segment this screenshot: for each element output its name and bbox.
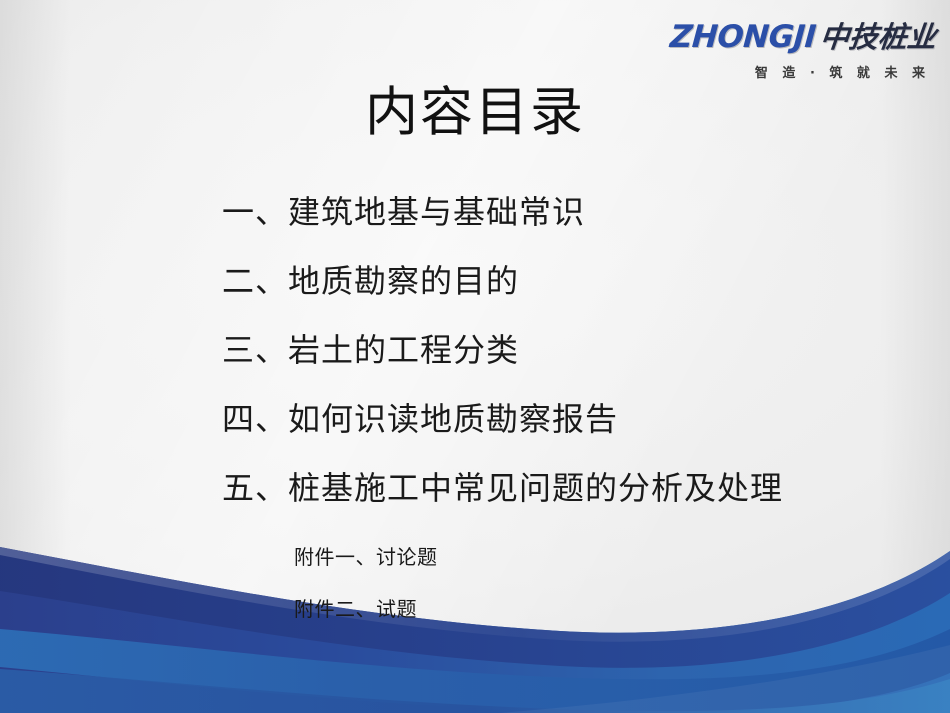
toc-item-1-label: 建筑地基与基础常识 bbox=[288, 193, 585, 231]
toc-item-2-number: 二、 bbox=[222, 262, 288, 300]
logo-tagline: 智 造 · 筑 就 未 来 bbox=[666, 62, 936, 81]
toc-item-5: 五、桩基施工中常见问题的分析及处理 bbox=[222, 472, 912, 504]
toc-item-2: 二、地质勘察的目的 bbox=[222, 265, 912, 297]
logo-chinese-text: 中技桩业 bbox=[818, 23, 937, 52]
toc-item-3-label: 岩土的工程分类 bbox=[288, 331, 519, 369]
slide-canvas: ZHONGJI 中技桩业 智 造 · 筑 就 未 来 内容目录 一、建筑地基与基… bbox=[0, 0, 950, 713]
page-title: 内容目录 bbox=[0, 84, 950, 142]
toc-item-5-label: 桩基施工中常见问题的分析及处理 bbox=[288, 469, 783, 507]
toc-item-4-label: 如何识读地质勘察报告 bbox=[288, 400, 618, 438]
toc-appendix-2: 附件二、试题 bbox=[294, 593, 912, 622]
toc-item-1: 一、建筑地基与基础常识 bbox=[222, 196, 912, 228]
toc-appendix-1: 附件一、讨论题 bbox=[294, 541, 912, 570]
company-logo: ZHONGJI 中技桩业 智 造 · 筑 就 未 来 bbox=[666, 22, 936, 81]
toc-item-4-number: 四、 bbox=[222, 400, 288, 438]
table-of-contents: 一、建筑地基与基础常识 二、地质勘察的目的 三、岩土的工程分类 四、如何识读地质… bbox=[222, 196, 912, 645]
toc-item-5-number: 五、 bbox=[222, 469, 288, 507]
toc-item-4: 四、如何识读地质勘察报告 bbox=[222, 403, 912, 435]
toc-item-3-number: 三、 bbox=[222, 331, 288, 369]
logo-wordmark: ZHONGJI 中技桩业 bbox=[666, 22, 936, 53]
toc-item-2-label: 地质勘察的目的 bbox=[288, 262, 519, 300]
toc-item-3: 三、岩土的工程分类 bbox=[222, 334, 912, 366]
logo-latin-text: ZHONGJI bbox=[669, 22, 817, 53]
toc-item-1-number: 一、 bbox=[222, 193, 288, 231]
